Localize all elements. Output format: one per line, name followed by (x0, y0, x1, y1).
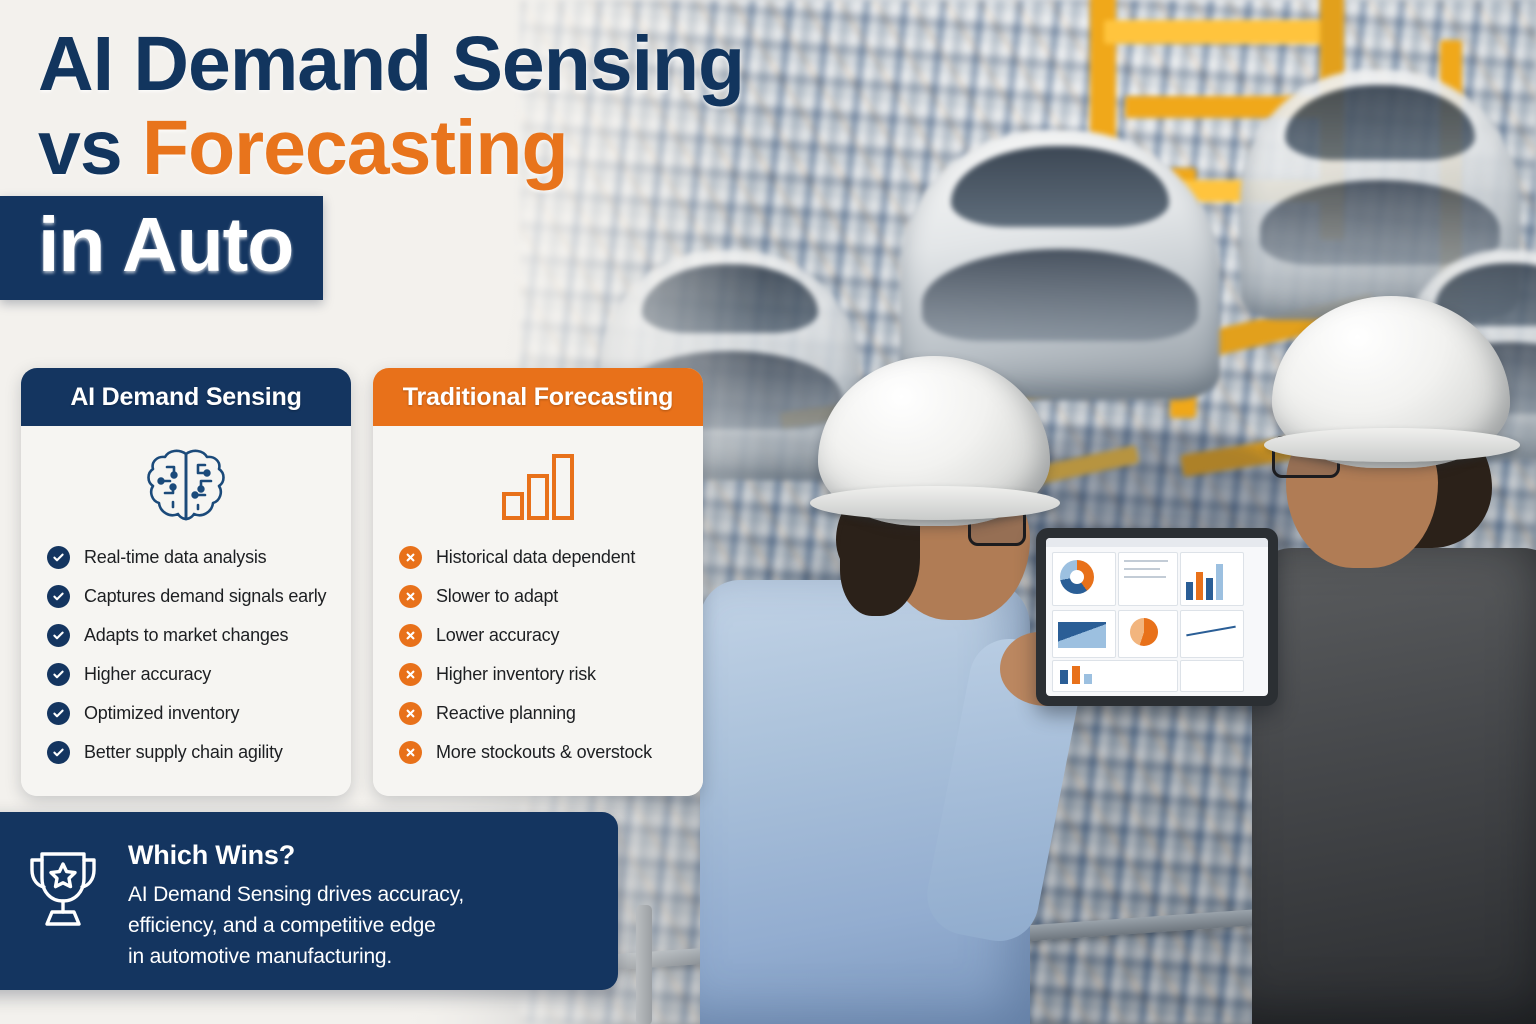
check-icon (47, 702, 70, 725)
card-1-body: Real-time data analysis Captures demand … (21, 426, 351, 796)
worker-left-helmet-brim (810, 486, 1060, 520)
list-item: Reactive planning (399, 694, 703, 733)
list-item-label: Adapts to market changes (84, 625, 288, 646)
list-item-label: Real-time data analysis (84, 547, 266, 568)
headline-line-2-accent: Forecasting (142, 105, 567, 191)
card-2-body: Historical data dependent Slower to adap… (373, 426, 703, 796)
list-item-label: Reactive planning (436, 703, 576, 724)
list-item-label: Higher accuracy (84, 664, 211, 685)
tablet-bar (1216, 564, 1223, 600)
cross-icon (399, 585, 422, 608)
brain-icon (143, 440, 229, 532)
card-traditional-forecasting: Traditional Forecasting Historical data … (373, 368, 703, 796)
list-item: Better supply chain agility (47, 733, 351, 772)
worker-right-torso (1252, 548, 1536, 1024)
tablet-bar (1206, 578, 1213, 600)
bar-chart-icon (500, 440, 576, 532)
worker-right-helmet-brim (1264, 428, 1520, 462)
tablet-pie-chart (1130, 618, 1158, 646)
list-item-label: More stockouts & overstock (436, 742, 652, 763)
tablet-area-chart (1058, 622, 1106, 648)
list-item: More stockouts & overstock (399, 733, 703, 772)
cross-icon (399, 624, 422, 647)
headline-line-2-prefix: vs (38, 105, 142, 191)
card-ai-demand-sensing: AI Demand Sensing (21, 368, 351, 796)
check-icon (47, 624, 70, 647)
infographic-canvas: AI Demand Sensing vs Forecasting in Auto… (0, 0, 1536, 1024)
tablet-toolbar (1046, 538, 1268, 547)
headline-line-1: AI Demand Sensing (38, 22, 918, 106)
tablet-device[interactable] (1036, 528, 1278, 706)
headline-line-3: in Auto (0, 196, 323, 300)
list-item: Slower to adapt (399, 577, 703, 616)
list-item: Lower accuracy (399, 616, 703, 655)
tablet-widget (1052, 660, 1178, 692)
list-item-label: Better supply chain agility (84, 742, 283, 763)
card-2-list: Historical data dependent Slower to adap… (373, 538, 703, 772)
cross-icon (399, 702, 422, 725)
list-item-label: Optimized inventory (84, 703, 239, 724)
list-item: Captures demand signals early (47, 577, 351, 616)
tablet-bar (1072, 666, 1080, 684)
trophy-icon (24, 846, 102, 937)
tablet-screen[interactable] (1046, 538, 1268, 696)
comparison-cards: AI Demand Sensing (21, 368, 703, 796)
list-item-label: Lower accuracy (436, 625, 559, 646)
tablet-text-line (1124, 560, 1168, 562)
tablet-bar (1196, 572, 1203, 600)
cross-icon (399, 741, 422, 764)
check-icon (47, 546, 70, 569)
list-item: Adapts to market changes (47, 616, 351, 655)
headline-line-3-wrap: in Auto (38, 190, 918, 300)
list-item-label: Captures demand signals early (84, 586, 326, 607)
list-item: Historical data dependent (399, 538, 703, 577)
tablet-bar (1060, 670, 1068, 684)
list-item-label: Slower to adapt (436, 586, 558, 607)
list-item: Optimized inventory (47, 694, 351, 733)
tablet-bar (1084, 674, 1092, 684)
list-item: Real-time data analysis (47, 538, 351, 577)
cross-icon (399, 663, 422, 686)
tablet-text-line (1124, 568, 1160, 570)
cross-icon (399, 546, 422, 569)
card-1-list: Real-time data analysis Captures demand … (21, 538, 351, 772)
list-item-label: Historical data dependent (436, 547, 635, 568)
verdict-line-3: in automotive manufacturing. (128, 941, 464, 972)
verdict-line-2: efficiency, and a competitive edge (128, 910, 464, 941)
check-icon (47, 741, 70, 764)
list-item: Higher inventory risk (399, 655, 703, 694)
verdict-text-block: Which Wins? AI Demand Sensing drives acc… (128, 840, 464, 972)
verdict-title: Which Wins? (128, 840, 464, 871)
list-item: Higher accuracy (47, 655, 351, 694)
verdict-line-1: AI Demand Sensing drives accuracy, (128, 879, 464, 910)
tablet-bar (1186, 582, 1193, 600)
headline-block: AI Demand Sensing vs Forecasting in Auto (38, 22, 918, 300)
check-icon (47, 663, 70, 686)
card-2-header: Traditional Forecasting (373, 368, 703, 426)
tablet-text-line (1124, 576, 1166, 578)
tablet-widget (1180, 660, 1244, 692)
card-1-header: AI Demand Sensing (21, 368, 351, 426)
verdict-banner: Which Wins? AI Demand Sensing drives acc… (0, 812, 618, 990)
list-item-label: Higher inventory risk (436, 664, 596, 685)
tablet-donut-hole (1070, 570, 1084, 584)
check-icon (47, 585, 70, 608)
headline-line-2: vs Forecasting (38, 106, 918, 190)
